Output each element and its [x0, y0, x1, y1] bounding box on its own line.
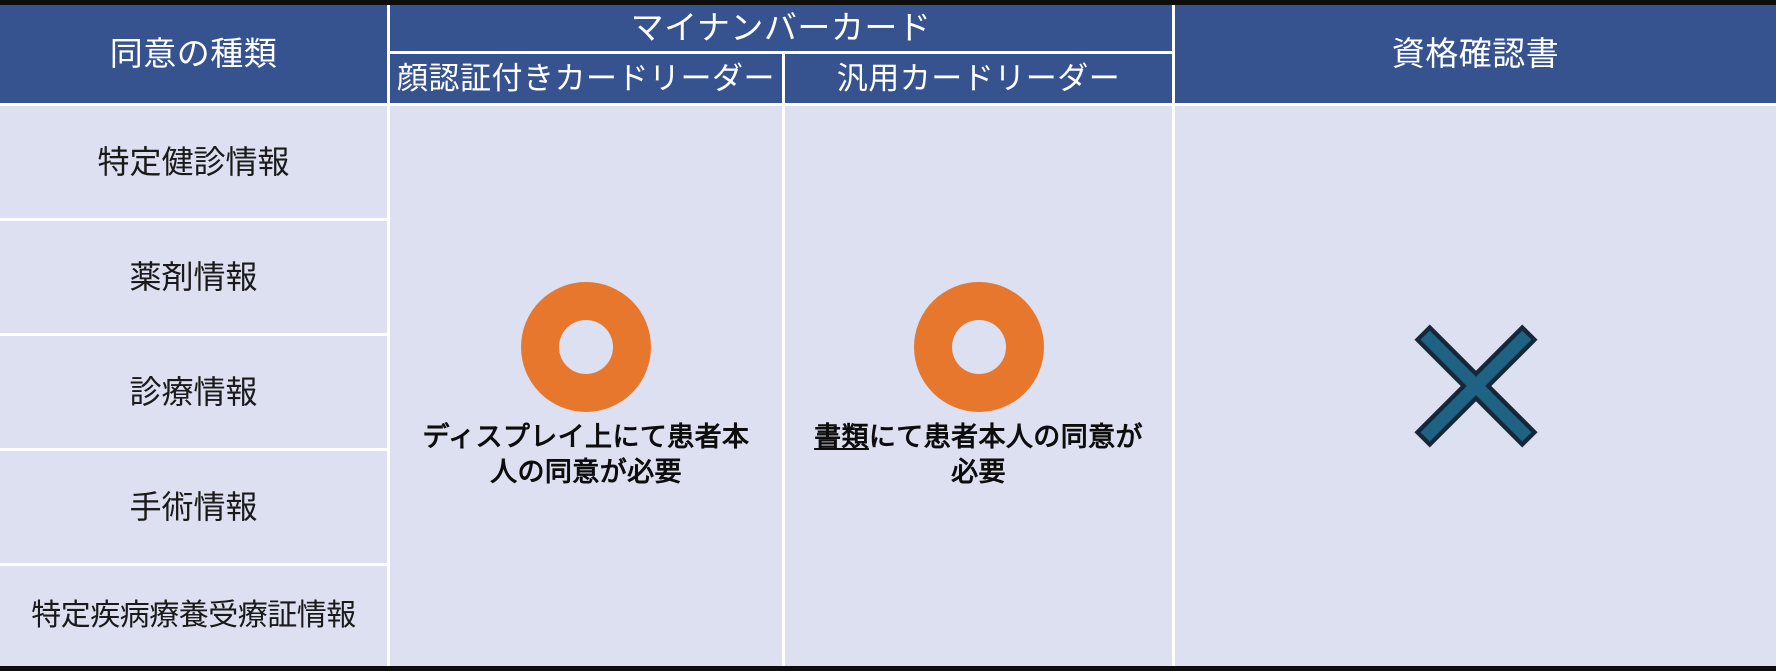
- header-face-auth-card-reader: 顔認証付きカードリーダー: [390, 54, 785, 106]
- header-row-group: 同意の種類 マイナンバーカード 資格確認書: [0, 5, 1776, 54]
- note-general-reader: 書類にて患者本人の同意が必要: [804, 420, 1154, 489]
- note-general-reader-underlined: 書類: [814, 422, 869, 452]
- row-label-specific-disease-certificate: 特定疾病療養受療証情報: [0, 566, 390, 666]
- header-my-number-card: マイナンバーカード: [390, 5, 1175, 54]
- row-label-medical-treatment: 診療情報: [0, 336, 390, 451]
- header-consent-type: 同意の種類: [0, 5, 390, 106]
- comparison-table-figure: 同意の種類 マイナンバーカード 資格確認書 顔認証付きカードリーダー 汎用カード…: [0, 0, 1776, 671]
- consent-comparison-table: 同意の種類 マイナンバーカード 資格確認書 顔認証付きカードリーダー 汎用カード…: [0, 5, 1776, 666]
- row-label-surgery: 手術情報: [0, 451, 390, 566]
- judgement-face-auth-reader: ディスプレイ上にて患者本人の同意が必要: [390, 106, 785, 666]
- header-qualification-certificate: 資格確認書: [1175, 5, 1776, 106]
- orange-donut-circle-icon: [521, 282, 651, 412]
- judgement-certificate: [1175, 106, 1776, 666]
- row-label-medication: 薬剤情報: [0, 221, 390, 336]
- orange-donut-circle-icon: [914, 282, 1044, 412]
- note-face-auth-reader: ディスプレイ上にて患者本人の同意が必要: [411, 420, 761, 489]
- blue-x-mark-icon: [1408, 318, 1544, 454]
- note-general-reader-rest: にて患者本人の同意が必要: [869, 422, 1143, 487]
- bottom-border-rule: [0, 666, 1776, 671]
- table-row: 特定健診情報 ディスプレイ上にて患者本人の同意が必要 書類にて患者本人の同意が必…: [0, 106, 1776, 221]
- row-label-specific-health-checkup: 特定健診情報: [0, 106, 390, 221]
- header-general-card-reader: 汎用カードリーダー: [785, 54, 1175, 106]
- judgement-general-reader: 書類にて患者本人の同意が必要: [785, 106, 1175, 666]
